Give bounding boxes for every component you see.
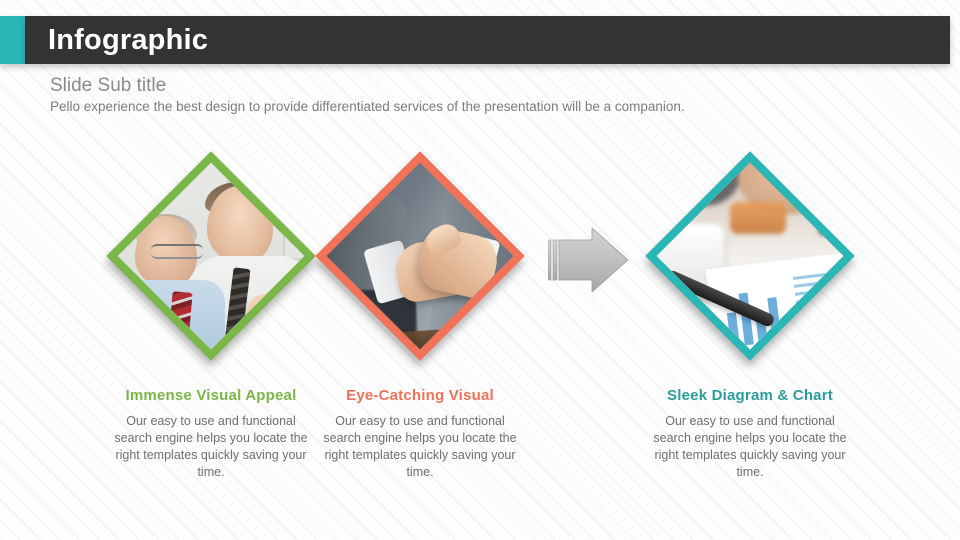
caption-title-3: Sleek Diagram & Chart (645, 386, 855, 406)
caption-body-1: Our easy to use and functional search en… (106, 413, 316, 481)
diamond-image-clip-1 (118, 163, 305, 350)
slide-canvas: Infographic Slide Sub title Pello experi… (0, 0, 960, 540)
diamond-item-2[interactable] (315, 151, 525, 361)
caption-title-2: Eye-Catching Visual (315, 386, 525, 406)
caption-body-2: Our easy to use and functional search en… (315, 413, 525, 481)
page-title: Infographic (48, 22, 208, 58)
caption-title-1: Immense Visual Appeal (106, 386, 316, 406)
diamond-image-clip-2 (327, 163, 514, 350)
caption-2: Eye-Catching Visual Our easy to use and … (315, 386, 525, 481)
diamond-item-1[interactable] (106, 151, 316, 361)
diamond-item-3[interactable] (645, 151, 855, 361)
two-businessmen-applauding-photo (118, 163, 305, 350)
slide-subtitle: Slide Sub title (50, 74, 166, 98)
caption-1: Immense Visual Appeal Our easy to use an… (106, 386, 316, 481)
diamond-frame-2 (315, 151, 524, 360)
desk-with-pen-and-chart-photo (657, 163, 844, 350)
right-arrow-icon (548, 226, 630, 294)
diamond-image-clip-3 (657, 163, 844, 350)
caption-body-3: Our easy to use and functional search en… (645, 413, 855, 481)
header-accent-block (0, 16, 25, 64)
caption-3: Sleek Diagram & Chart Our easy to use an… (645, 386, 855, 481)
business-handshake-photo (327, 163, 514, 350)
diamond-frame-3 (645, 151, 854, 360)
diamond-frame-1 (106, 151, 315, 360)
slide-description: Pello experience the best design to prov… (50, 98, 685, 116)
